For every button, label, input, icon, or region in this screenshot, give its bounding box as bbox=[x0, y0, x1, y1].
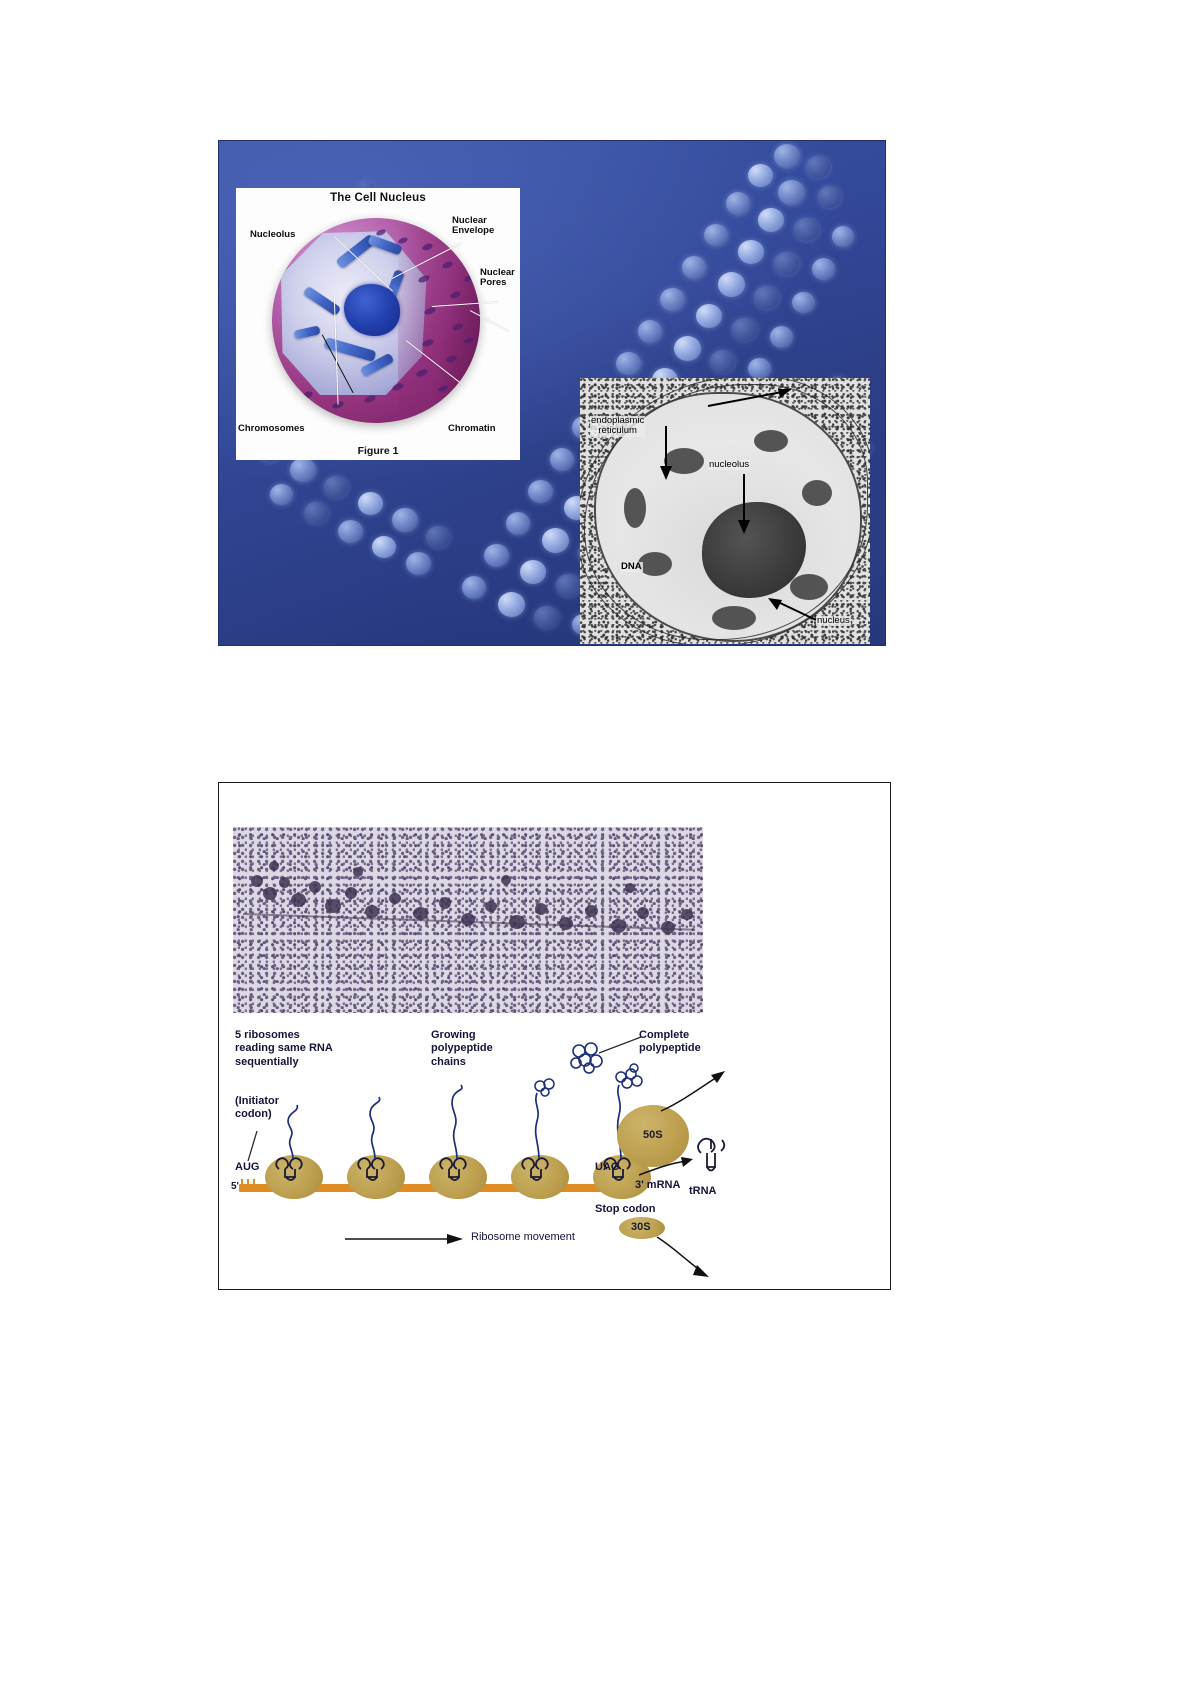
arrow-30s-release bbox=[655, 1235, 715, 1279]
free-trna-glyph bbox=[693, 1135, 733, 1183]
nuclear-pore bbox=[301, 390, 313, 400]
cell-nucleus-illustration-inset: The Cell Nucleus bbox=[236, 188, 520, 460]
label-stop-codon-sequence: UAG bbox=[595, 1161, 619, 1174]
label-large-subunit: 50S bbox=[643, 1129, 663, 1141]
label-endoplasmic-reticulum: endoplasmic reticulum bbox=[590, 416, 645, 437]
label-start-codon: AUG bbox=[235, 1161, 259, 1174]
label-chromosomes: Chromosomes bbox=[238, 424, 305, 434]
label-nuclear-pores: Nuclear Pores bbox=[480, 268, 515, 289]
label-trna: tRNA bbox=[689, 1185, 717, 1198]
nascent-polypeptide-chain bbox=[279, 1103, 307, 1159]
label-growing-chains: Growing polypeptide chains bbox=[431, 1029, 493, 1069]
codon-tick bbox=[253, 1179, 255, 1190]
nucleus-inset-title: The Cell Nucleus bbox=[236, 192, 520, 204]
label-nucleolus: Nucleolus bbox=[250, 230, 295, 240]
label-nuclear-envelope: Nuclear Envelope bbox=[452, 216, 494, 237]
ribosome-particle bbox=[461, 913, 475, 926]
nascent-polypeptide-chain bbox=[525, 1073, 561, 1159]
nascent-polypeptide-chain bbox=[361, 1095, 389, 1159]
label-five-prime: 5' bbox=[231, 1181, 239, 1193]
ribosome-particle bbox=[269, 861, 279, 871]
ribosome-particle bbox=[501, 875, 511, 885]
label-dna: DNA bbox=[620, 562, 643, 572]
label-micrograph-nucleus: nucleus bbox=[816, 616, 851, 626]
trna-in-ribosome bbox=[437, 1155, 481, 1197]
leader-line-initiator-codon bbox=[245, 1131, 261, 1163]
ribosome-particle bbox=[535, 903, 547, 915]
trna-in-ribosome bbox=[273, 1155, 317, 1197]
ribosome-particle bbox=[559, 917, 573, 930]
trna-in-ribosome bbox=[519, 1155, 563, 1197]
label-stop-codon: Stop codon bbox=[595, 1203, 656, 1216]
ribosome-particle bbox=[681, 909, 693, 920]
ribosome-particle bbox=[389, 893, 401, 904]
ribosome-particle bbox=[439, 897, 451, 909]
label-initiator-codon: (Initiator codon) bbox=[235, 1095, 279, 1122]
ribosome-particle bbox=[365, 905, 379, 918]
arrow-nucleolus bbox=[736, 474, 752, 536]
label-ribosomes-reading: 5 ribosomes reading same RNA sequentiall… bbox=[235, 1029, 333, 1069]
arrow-endoplasmic-reticulum-top bbox=[706, 386, 796, 410]
codon-tick bbox=[241, 1179, 243, 1190]
ribosome-particle bbox=[251, 875, 263, 887]
polysome-electron-micrograph bbox=[233, 827, 703, 1013]
ribosome-particle bbox=[353, 867, 363, 877]
arrow-nucleus bbox=[766, 596, 820, 624]
arrow-50s-release bbox=[659, 1069, 729, 1115]
label-three-prime-mrna: 3' mRNA bbox=[635, 1179, 680, 1192]
nuclear-envelope-rim bbox=[398, 218, 480, 423]
nucleus-electron-micrograph-inset: endoplasmic reticulum nucleolus DNA nucl… bbox=[580, 378, 870, 644]
ribosome-particle bbox=[263, 887, 277, 900]
arrow-ribosome-movement bbox=[343, 1231, 467, 1247]
trna-in-ribosome bbox=[355, 1155, 399, 1197]
ribosome-particle bbox=[637, 907, 649, 919]
ribosome-particle bbox=[509, 915, 525, 929]
label-micrograph-nucleolus: nucleolus bbox=[708, 460, 750, 470]
ribosome-particle bbox=[291, 893, 306, 907]
nascent-polypeptide-chain bbox=[443, 1083, 471, 1159]
ribosome-particle bbox=[625, 883, 635, 893]
ribosome-particle bbox=[611, 919, 626, 933]
ribosome-particle bbox=[309, 881, 321, 893]
label-ribosome-movement: Ribosome movement bbox=[471, 1231, 575, 1244]
ribosome-particle bbox=[413, 907, 428, 920]
ribosome-particle bbox=[485, 901, 497, 912]
ribosome-particle bbox=[585, 905, 598, 917]
arrow-trna-release bbox=[637, 1155, 695, 1181]
label-chromatin: Chromatin bbox=[448, 424, 496, 434]
ribosome-particle bbox=[325, 899, 341, 913]
label-small-subunit: 30S bbox=[631, 1221, 651, 1233]
ribosome-particle bbox=[345, 887, 357, 899]
complete-polypeptide-glyph bbox=[567, 1039, 607, 1075]
translation-figure-panel: 5 ribosomes reading same RNA sequentiall… bbox=[218, 782, 891, 1290]
ribosome-particle bbox=[661, 921, 675, 934]
figure-1-caption: Figure 1 bbox=[236, 445, 520, 457]
label-complete-polypeptide: Complete polypeptide bbox=[639, 1029, 701, 1056]
codon-tick bbox=[247, 1179, 249, 1190]
ribosome-particle bbox=[279, 877, 290, 888]
arrow-endoplasmic-reticulum-down bbox=[658, 426, 674, 482]
nuclear-pore bbox=[363, 394, 376, 404]
